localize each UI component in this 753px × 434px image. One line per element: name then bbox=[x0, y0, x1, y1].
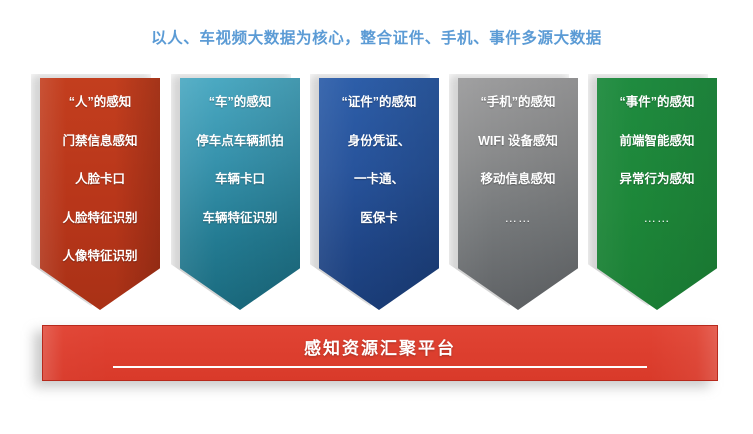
platform-banner[interactable]: 感知资源汇聚平台 bbox=[42, 325, 718, 381]
column-item: 身份凭证、 bbox=[319, 135, 439, 148]
column-item: 门禁信息感知 bbox=[40, 135, 160, 148]
column-item: 人像特征识别 bbox=[40, 250, 160, 263]
slide-canvas: 以人、车视频大数据为核心，整合证件、手机、事件多源大数据 “人”的感知 门禁信息… bbox=[0, 0, 753, 434]
column-item: 前端智能感知 bbox=[597, 135, 717, 148]
column-body-mobile[interactable]: “手机”的感知 WIFI 设备感知 移动信息感知 …… bbox=[458, 78, 578, 310]
platform-label: 感知资源汇聚平台 bbox=[304, 340, 456, 357]
column-body-event[interactable]: “事件”的感知 前端智能感知 异常行为感知 …… bbox=[597, 78, 717, 310]
column-credential[interactable]: “证件”的感知 身份凭证、 一卡通、 医保卡 bbox=[319, 78, 439, 310]
platform-body[interactable]: 感知资源汇聚平台 bbox=[42, 325, 718, 381]
column-item: 车辆特征识别 bbox=[180, 212, 300, 225]
column-mobile[interactable]: “手机”的感知 WIFI 设备感知 移动信息感知 …… bbox=[458, 78, 578, 310]
column-heading: “事件”的感知 bbox=[597, 96, 717, 109]
column-event[interactable]: “事件”的感知 前端智能感知 异常行为感知 …… bbox=[597, 78, 717, 310]
sensing-columns: “人”的感知 门禁信息感知 人脸卡口 人脸特征识别 人像特征识别 “车”的感知 … bbox=[0, 78, 753, 310]
column-vehicle[interactable]: “车”的感知 停车点车辆抓拍 车辆卡口 车辆特征识别 bbox=[180, 78, 300, 310]
column-heading: “人”的感知 bbox=[40, 96, 160, 109]
column-body-credential[interactable]: “证件”的感知 身份凭证、 一卡通、 医保卡 bbox=[319, 78, 439, 310]
page-title: 以人、车视频大数据为核心，整合证件、手机、事件多源大数据 bbox=[0, 26, 753, 48]
column-people[interactable]: “人”的感知 门禁信息感知 人脸卡口 人脸特征识别 人像特征识别 bbox=[40, 78, 160, 310]
column-body-people[interactable]: “人”的感知 门禁信息感知 人脸卡口 人脸特征识别 人像特征识别 bbox=[40, 78, 160, 310]
platform-underline bbox=[113, 366, 647, 368]
column-body-vehicle[interactable]: “车”的感知 停车点车辆抓拍 车辆卡口 车辆特征识别 bbox=[180, 78, 300, 310]
column-heading: “证件”的感知 bbox=[319, 96, 439, 109]
column-item: WIFI 设备感知 bbox=[458, 135, 578, 148]
column-item: 一卡通、 bbox=[319, 173, 439, 186]
column-item-ellipsis: …… bbox=[597, 212, 717, 225]
column-item: 异常行为感知 bbox=[597, 173, 717, 186]
column-item: 人脸卡口 bbox=[40, 173, 160, 186]
column-item: 人脸特征识别 bbox=[40, 212, 160, 225]
column-item: 医保卡 bbox=[319, 212, 439, 225]
column-heading: “车”的感知 bbox=[180, 96, 300, 109]
column-item: 移动信息感知 bbox=[458, 173, 578, 186]
column-item: 停车点车辆抓拍 bbox=[180, 135, 300, 148]
column-item: 车辆卡口 bbox=[180, 173, 300, 186]
column-item-ellipsis: …… bbox=[458, 212, 578, 225]
column-heading: “手机”的感知 bbox=[458, 96, 578, 109]
